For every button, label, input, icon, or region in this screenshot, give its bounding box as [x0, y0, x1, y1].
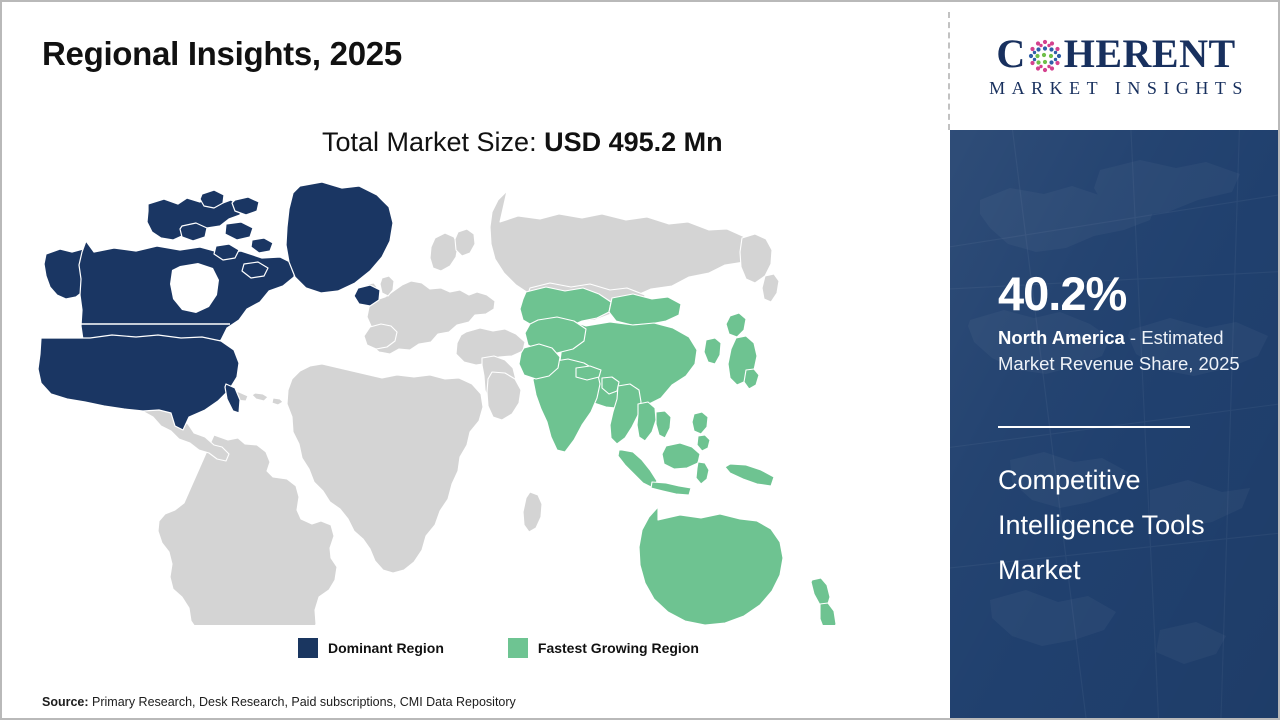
world-map-svg: [30, 180, 870, 625]
infographic-page: Regional Insights, 2025 Total Market Siz…: [0, 0, 1280, 720]
market-name: Competitive Intelligence Tools Market: [998, 458, 1256, 592]
stat-caption: North America - Estimated Market Revenue…: [998, 325, 1266, 378]
logo-wordmark: C: [996, 34, 1235, 74]
map-legend: Dominant Region Fastest Growing Region: [298, 638, 699, 658]
legend-label-fastest-growing: Fastest Growing Region: [538, 640, 699, 656]
legend-swatch-dominant: [298, 638, 318, 658]
sidebar-content: 40.2% North America - Estimated Market R…: [950, 130, 1280, 720]
logo-subtitle: MARKET INSIGHTS: [983, 78, 1249, 99]
logo-letter-c: C: [996, 34, 1025, 74]
dotted-globe-icon: [1027, 38, 1063, 74]
sidebar-body: 40.2% North America - Estimated Market R…: [950, 130, 1280, 720]
stat-value: 40.2%: [998, 270, 1126, 317]
legend-label-dominant: Dominant Region: [328, 640, 444, 656]
total-market-size-label: Total Market Size:: [322, 127, 544, 157]
total-market-size: Total Market Size: USD 495.2 Mn: [322, 127, 723, 158]
main-panel: Regional Insights, 2025 Total Market Siz…: [2, 2, 949, 720]
horizontal-rule: [998, 426, 1190, 428]
legend-item-dominant: Dominant Region: [298, 638, 444, 658]
sidebar: C: [950, 2, 1280, 720]
logo-letters-herent: HERENT: [1064, 34, 1236, 74]
region-asia-pacific-fastest: [519, 287, 836, 625]
brand-logo: C: [950, 2, 1280, 130]
source-label: Source:: [42, 695, 89, 709]
legend-swatch-fastest-growing: [508, 638, 528, 658]
page-title: Regional Insights, 2025: [42, 35, 402, 73]
source-text: Primary Research, Desk Research, Paid su…: [89, 695, 516, 709]
total-market-size-value: USD 495.2 Mn: [544, 127, 723, 157]
stat-region-name: North America: [998, 327, 1125, 348]
legend-item-fastest-growing: Fastest Growing Region: [508, 638, 699, 658]
world-map: [30, 180, 870, 625]
source-note: Source: Primary Research, Desk Research,…: [42, 695, 516, 709]
